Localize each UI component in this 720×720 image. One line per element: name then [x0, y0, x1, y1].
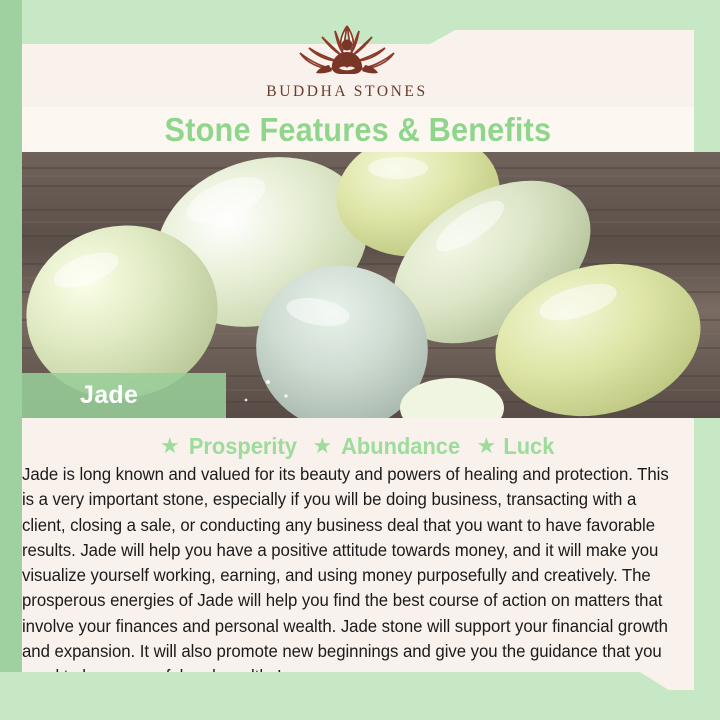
- bottom-green-wedge: [0, 672, 694, 720]
- infographic-page: BUDDHA STONES Stone Features & Benefits: [0, 0, 720, 720]
- photo-caption: Jade: [80, 381, 138, 410]
- keyword-label: Abundance: [341, 433, 460, 460]
- lotus-meditation-icon: [287, 22, 407, 80]
- brand-name: BUDDHA STONES: [266, 83, 427, 101]
- keyword-label: Luck: [504, 433, 555, 460]
- brand-logo: BUDDHA STONES: [0, 22, 694, 108]
- title-banner: Stone Features & Benefits: [22, 107, 694, 152]
- star-icon: ★: [313, 435, 333, 457]
- description-paragraph: Jade is long known and valued for its be…: [22, 462, 674, 690]
- keyword-row: ★ Prosperity ★ Abundance ★ Luck: [22, 430, 694, 462]
- photo-caption-band: Jade: [22, 373, 226, 418]
- star-icon: ★: [160, 435, 180, 457]
- keyword-item: ★ Prosperity: [160, 433, 300, 460]
- keyword-item: ★ Luck: [477, 433, 556, 460]
- star-icon: ★: [477, 435, 497, 457]
- page-title: Stone Features & Benefits: [165, 111, 552, 149]
- left-green-strip: [0, 0, 22, 720]
- keyword-label: Prosperity: [189, 433, 297, 460]
- keyword-item: ★ Abundance: [313, 433, 464, 460]
